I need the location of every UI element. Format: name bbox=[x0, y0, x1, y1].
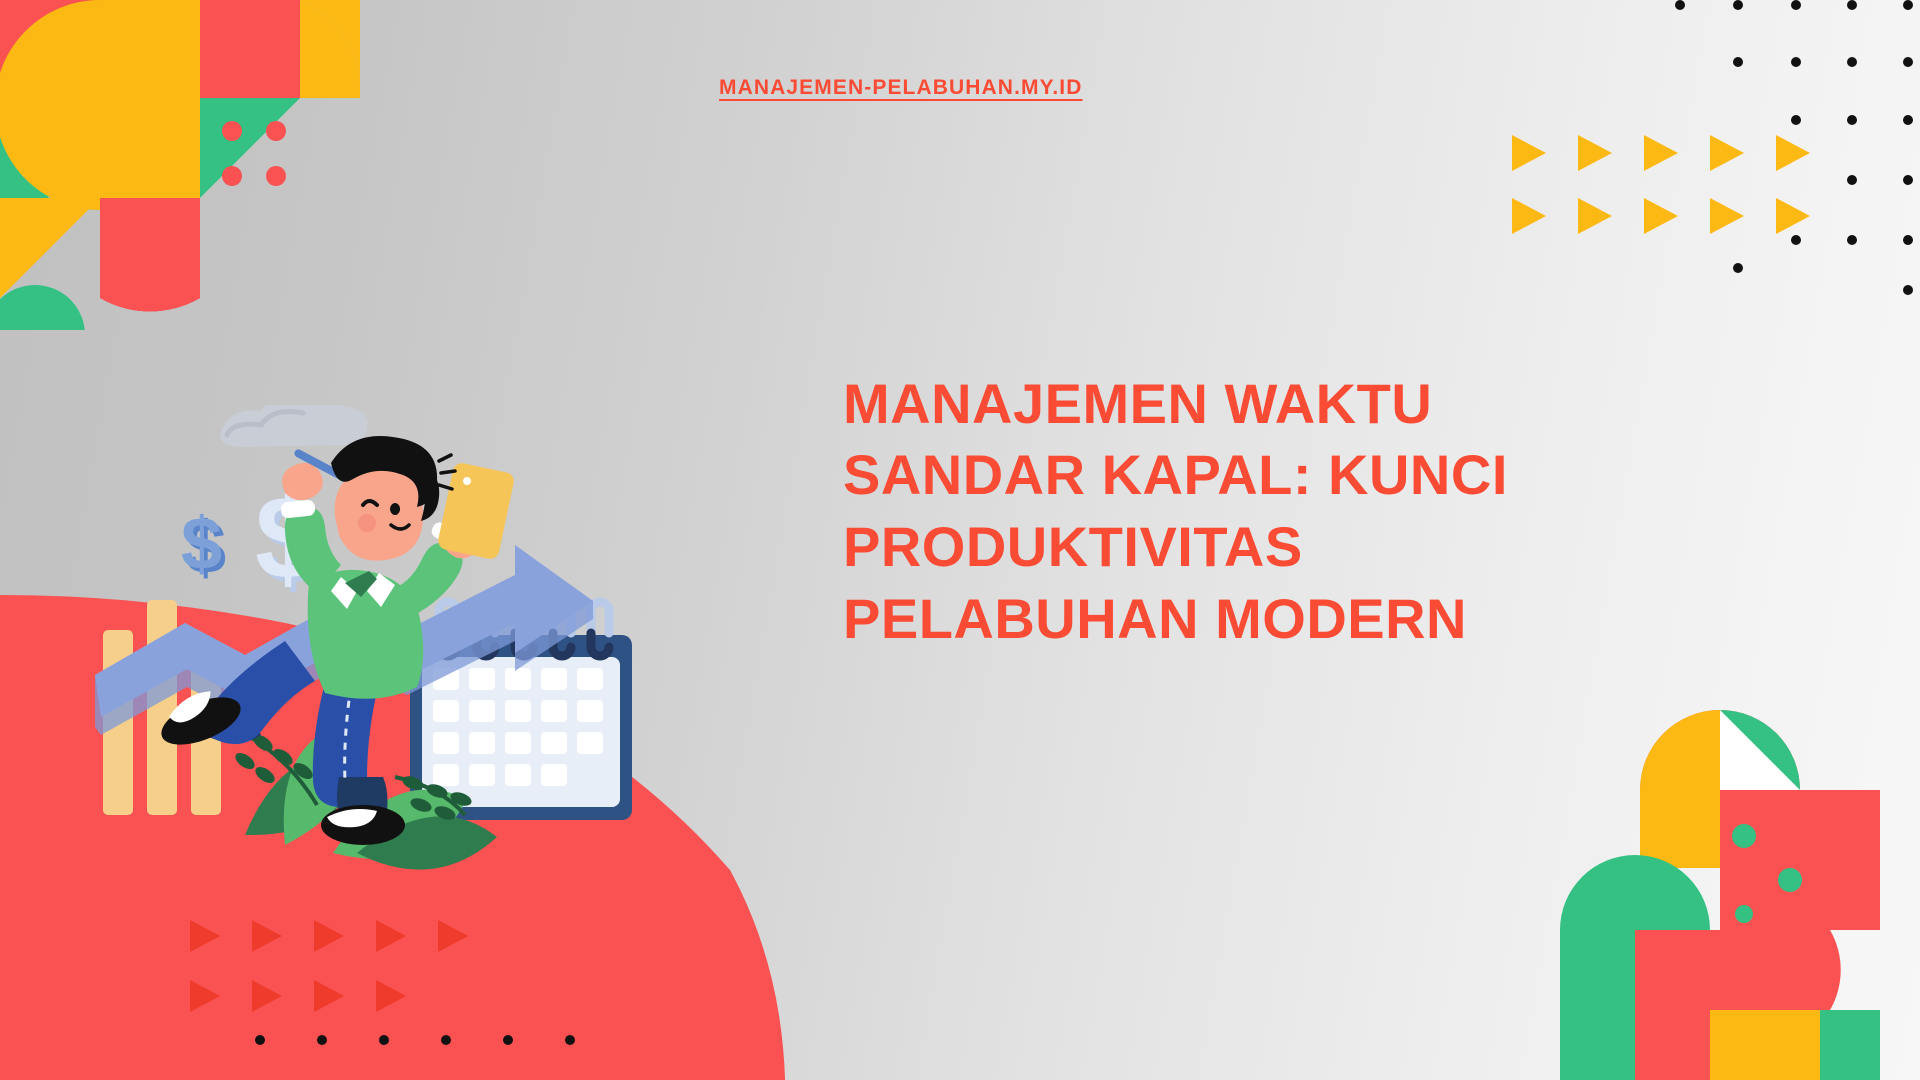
svg-text:$: $ bbox=[181, 502, 222, 585]
top-right-pattern-svg bbox=[1400, 0, 1920, 300]
headline-line-3: PRODUKTIVITAS bbox=[843, 511, 1663, 583]
banner-canvas: $ $ $ $ bbox=[0, 0, 1920, 1080]
page-title: MANAJEMEN WAKTU SANDAR KAPAL: KUNCI PROD… bbox=[843, 368, 1663, 655]
headline-line-2: SANDAR KAPAL: KUNCI bbox=[843, 439, 1663, 511]
grey-cloud bbox=[220, 405, 367, 447]
decoration-top-left bbox=[0, 0, 360, 330]
man-head bbox=[331, 436, 455, 561]
tablet bbox=[437, 462, 516, 561]
site-url-link[interactable]: MANAJEMEN-PELABUHAN.MY.ID bbox=[719, 76, 1083, 100]
illustration-businessman-growth: $ $ $ $ bbox=[95, 405, 665, 945]
illustration-svg: $ $ $ $ bbox=[95, 405, 665, 945]
bottom-right-geometry-svg bbox=[1490, 660, 1920, 1080]
decoration-bottom-right bbox=[1490, 660, 1920, 1080]
dollar-sign-small: $ $ bbox=[181, 502, 226, 589]
headline-line-1: MANAJEMEN WAKTU bbox=[843, 368, 1663, 440]
top-left-geometry-svg bbox=[0, 0, 360, 330]
decoration-top-right bbox=[1400, 0, 1920, 300]
headline-line-4: PELABUHAN MODERN bbox=[843, 583, 1663, 655]
